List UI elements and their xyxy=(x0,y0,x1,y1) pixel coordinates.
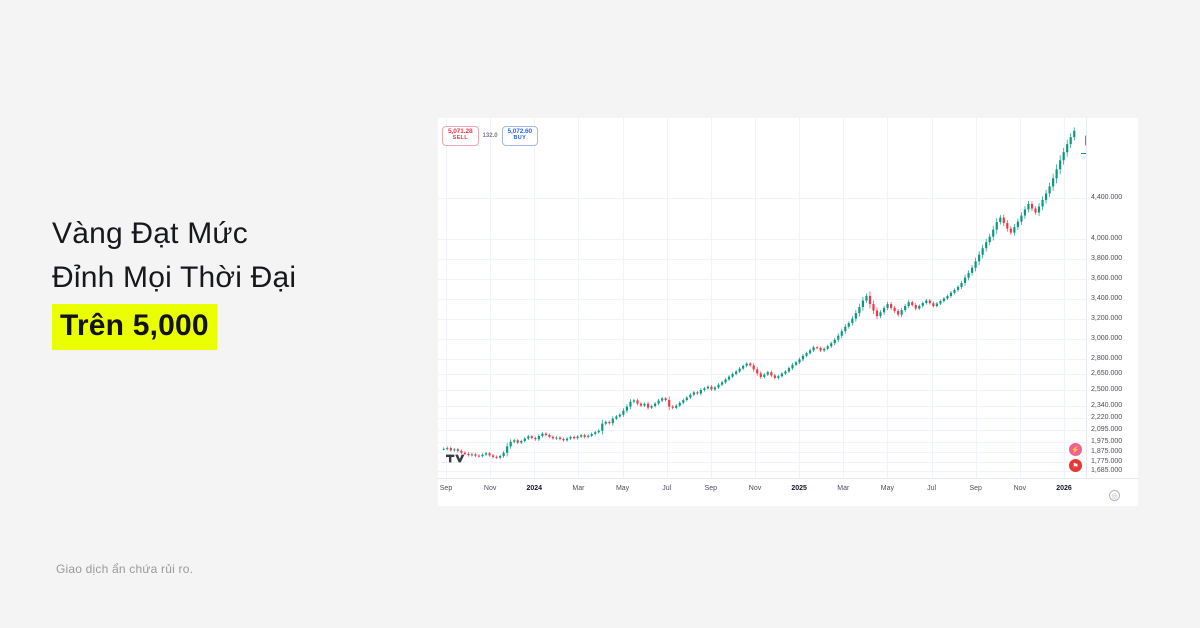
price-tick: 2,220.000 xyxy=(1091,414,1122,421)
price-tick: 3,600.000 xyxy=(1091,275,1122,282)
sell-button[interactable]: 5,071.28 SELL xyxy=(442,126,479,146)
time-tick: Jul xyxy=(662,485,671,492)
time-tick: Sep xyxy=(440,485,452,492)
price-tick: 2,500.000 xyxy=(1091,386,1122,393)
quote-bar[interactable]: 5,071.28 SELL 132.0 5,072.60 BUY xyxy=(442,126,538,146)
time-tick: Mar xyxy=(837,485,849,492)
price-tick: 3,000.000 xyxy=(1091,335,1122,342)
buy-button[interactable]: 5,072.60 BUY xyxy=(502,126,539,146)
headline-highlight: Trên 5,000 xyxy=(52,304,217,350)
spread-value: 132.0 xyxy=(483,133,498,139)
price-tick: 2,650.000 xyxy=(1091,370,1122,377)
tradingview-chart-panel[interactable]: 5,071.28 SELL 132.0 5,072.60 BUY Ask 5,0… xyxy=(438,118,1138,506)
price-scale[interactable]: 4,400.0004,000.0003,800.0003,600.0003,40… xyxy=(1086,118,1138,506)
time-tick: Sep xyxy=(705,485,717,492)
crosshair-icon[interactable]: ◎ xyxy=(1109,490,1120,501)
flag-icon[interactable]: ⚑ xyxy=(1069,459,1082,472)
price-tick: 2,340.000 xyxy=(1091,402,1122,409)
price-tick: 1,875.000 xyxy=(1091,448,1122,455)
headline-line-2: Đỉnh Mọi Thời Đại xyxy=(52,256,412,300)
risk-disclaimer: Giao dịch ẩn chứa rủi ro. xyxy=(56,562,193,576)
price-tick: 2,095.000 xyxy=(1091,426,1122,433)
time-tick: 2025 xyxy=(791,485,807,492)
price-tick: 1,775.000 xyxy=(1091,458,1122,465)
time-tick: Nov xyxy=(484,485,496,492)
price-tick: 4,000.000 xyxy=(1091,235,1122,242)
buy-label: BUY xyxy=(508,136,533,142)
page-title: Vàng Đạt Mức Đỉnh Mọi Thời Đại Trên 5,00… xyxy=(52,212,412,350)
price-tick: 1,975.000 xyxy=(1091,438,1122,445)
sell-label: SELL xyxy=(448,136,473,142)
headline-block: Vàng Đạt Mức Đỉnh Mọi Thời Đại Trên 5,00… xyxy=(52,212,412,350)
time-tick: 2026 xyxy=(1056,485,1072,492)
time-scale[interactable]: ◎ SepNov2024MarMayJulSepNov2025MarMayJul… xyxy=(438,478,1138,506)
chart-side-icons[interactable]: ⚡ ⚑ xyxy=(1069,443,1082,472)
alert-icon[interactable]: ⚡ xyxy=(1069,443,1082,456)
price-series xyxy=(438,118,1086,478)
price-tick: 2,800.000 xyxy=(1091,355,1122,362)
promo-banner: Vàng Đạt Mức Đỉnh Mọi Thời Đại Trên 5,00… xyxy=(0,0,1200,628)
time-tick: Jul xyxy=(927,485,936,492)
headline-line-1: Vàng Đạt Mức xyxy=(52,217,248,250)
time-tick: 2024 xyxy=(526,485,542,492)
tradingview-logo xyxy=(446,452,466,470)
time-tick: Nov xyxy=(749,485,761,492)
chart-plot-area[interactable] xyxy=(438,118,1086,478)
time-tick: May xyxy=(881,485,894,492)
time-tick: Nov xyxy=(1014,485,1026,492)
time-tick: Mar xyxy=(572,485,584,492)
price-tick: 3,400.000 xyxy=(1091,295,1122,302)
price-tick: 3,800.000 xyxy=(1091,255,1122,262)
price-tick: 1,685.000 xyxy=(1091,467,1122,474)
time-tick: Sep xyxy=(969,485,981,492)
time-tick: May xyxy=(616,485,629,492)
price-tick: 4,400.000 xyxy=(1091,194,1122,201)
price-tick: 3,200.000 xyxy=(1091,315,1122,322)
